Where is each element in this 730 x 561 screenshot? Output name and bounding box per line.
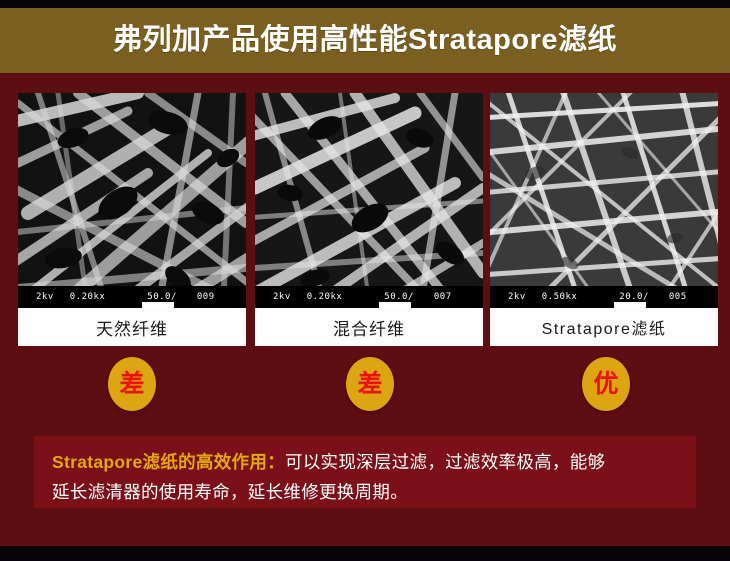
header-band: 弗列加产品使用高性能Stratapore滤纸 — [0, 8, 730, 73]
sem-frame-number: 005 — [669, 292, 687, 302]
sem-info-bar: 2kv 0.20kx 50.0/ 007 — [255, 286, 483, 308]
panel-natural-fiber: 2kv 0.20kx 50.0/ 009 天然纤维 — [18, 93, 246, 346]
promo-page: 弗列加产品使用高性能Stratapore滤纸 — [0, 0, 730, 561]
callout-lead: Stratapore滤纸的高效作用： — [52, 452, 285, 472]
sem-info-bar: 2kv 0.50kx 20.0/ 005 — [490, 286, 718, 308]
sem-voltage: 2kv — [508, 292, 526, 302]
panel-stratapore: 2kv 0.50kx 20.0/ 005 Stratapore滤纸 — [490, 93, 718, 346]
sem-magnification: 0.20kx — [70, 292, 106, 302]
sem-image-natural-fiber: 2kv 0.20kx 50.0/ 009 — [18, 93, 246, 308]
sem-voltage: 2kv — [36, 292, 54, 302]
rating-badge-mixed-fiber: 差 — [346, 357, 394, 411]
sem-scale: 20.0/ — [619, 292, 649, 302]
sem-voltage: 2kv — [273, 292, 291, 302]
panel-caption-stratapore: Stratapore滤纸 — [490, 308, 718, 346]
sem-scale-bar — [142, 302, 174, 308]
rating-badge-natural-fiber: 差 — [108, 357, 156, 411]
top-black-strip — [0, 0, 730, 8]
sem-frame-number: 009 — [197, 292, 215, 302]
sem-image-stratapore: 2kv 0.50kx 20.0/ 005 — [490, 93, 718, 308]
sem-magnification: 0.50kx — [542, 292, 578, 302]
callout-box: Stratapore滤纸的高效作用：可以实现深层过滤，过滤效率极高，能够 延长滤… — [34, 436, 696, 508]
sem-info-bar: 2kv 0.20kx 50.0/ 009 — [18, 286, 246, 308]
callout-line-1: Stratapore滤纸的高效作用：可以实现深层过滤，过滤效率极高，能够 — [52, 447, 678, 477]
callout-line-1-rest: 可以实现深层过滤，过滤效率极高，能够 — [285, 452, 605, 472]
panel-caption-natural-fiber: 天然纤维 — [18, 308, 246, 346]
panel-caption-mixed-fiber: 混合纤维 — [255, 308, 483, 346]
sem-image-mixed-fiber: 2kv 0.20kx 50.0/ 007 — [255, 93, 483, 308]
panel-mixed-fiber: 2kv 0.20kx 50.0/ 007 混合纤维 — [255, 93, 483, 346]
sem-magnification: 0.20kx — [307, 292, 343, 302]
sem-frame-number: 007 — [434, 292, 452, 302]
rating-badge-stratapore: 优 — [582, 357, 630, 411]
comparison-panels: 2kv 0.20kx 50.0/ 009 天然纤维 — [0, 73, 730, 355]
sem-scale: 50.0/ — [147, 292, 177, 302]
sem-scale: 50.0/ — [384, 292, 414, 302]
callout-line-2: 延长滤清器的使用寿命，延长维修更换周期。 — [52, 477, 678, 507]
sem-scale-bar — [614, 302, 646, 308]
bottom-black-strip — [0, 546, 730, 561]
page-title: 弗列加产品使用高性能Stratapore滤纸 — [113, 26, 617, 55]
sem-scale-bar — [379, 302, 411, 308]
